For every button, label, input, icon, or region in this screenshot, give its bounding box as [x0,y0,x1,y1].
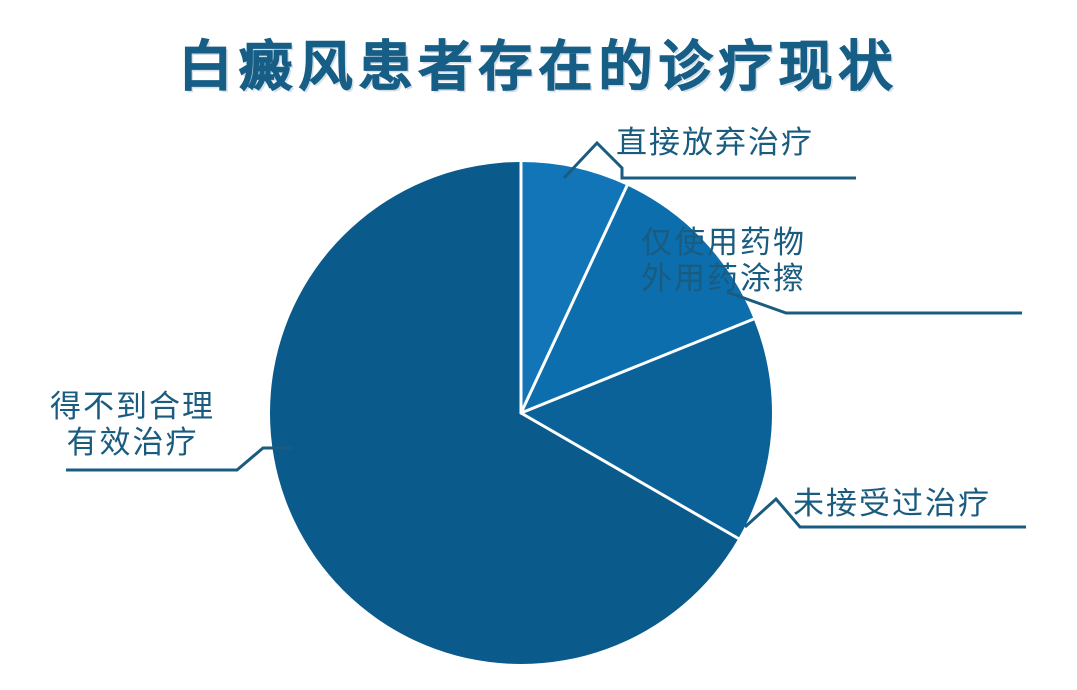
pie-chart-svg [0,0,1077,690]
infographic-page: 白癜风患者存在的诊疗现状 [0,0,1077,690]
callout-never-treated[interactable]: 未接受过治疗 [793,487,991,523]
pie-chart: 直接放弃治疗 仅使用药物 外用药涂擦 未接受过治疗 得不到合理 有效治疗 [0,0,1077,690]
callout-give-up[interactable]: 直接放弃治疗 [616,126,814,162]
callout-no-effective-care-line2: 有效治疗 [50,426,215,462]
callout-no-effective-care-line1: 得不到合理 [50,390,215,426]
callout-topical-medicine-line2: 外用药涂擦 [641,262,806,298]
callout-never-treated-text: 未接受过治疗 [793,487,991,523]
callout-no-effective-care[interactable]: 得不到合理 有效治疗 [50,390,215,461]
callout-topical-medicine[interactable]: 仅使用药物 外用药涂擦 [641,226,806,297]
callout-topical-medicine-line1: 仅使用药物 [641,226,806,262]
callout-give-up-text: 直接放弃治疗 [616,126,814,162]
